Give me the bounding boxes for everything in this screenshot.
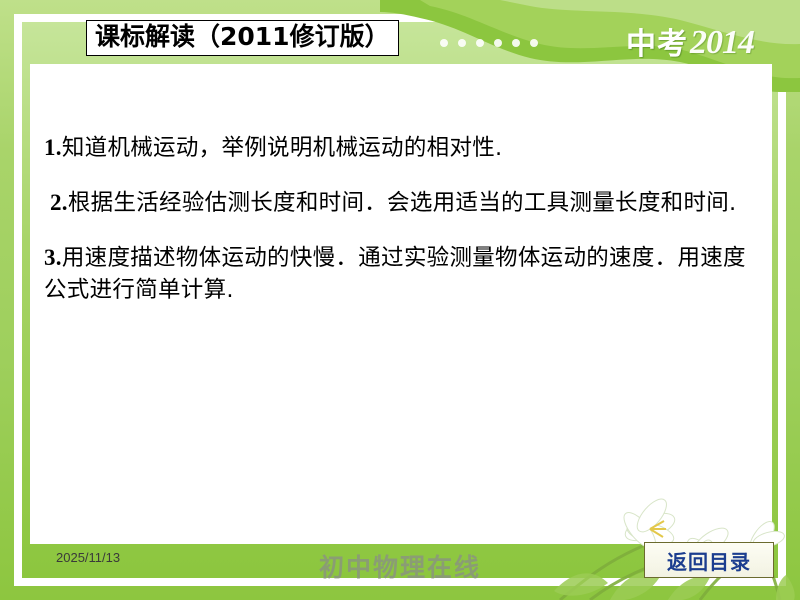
- list-item-number: 1.: [44, 135, 62, 160]
- list-item-number: 3.: [44, 245, 62, 270]
- slide-date: 2025/11/13: [56, 550, 120, 565]
- return-to-menu-button[interactable]: 返回目录: [644, 542, 774, 578]
- body-content: 1.知道机械运动，举例说明机械运动的相对性. 2.根据生活经验估测长度和时间．会…: [44, 132, 760, 329]
- exam-logo: 中考 2014: [626, 14, 754, 60]
- slide-canvas: 中考 2014 课标解读（2011修订版） 1.知道机械运动，举例说明机械运动的…: [0, 0, 800, 600]
- watermark: 初中物理在线: [275, 548, 525, 592]
- list-item: 3.用速度描述物体运动的快慢．通过实验测量物体运动的速度．用速度公式进行简单计算…: [44, 242, 760, 307]
- watermark-text: 初中物理在线: [275, 548, 525, 584]
- list-item: 2.根据生活经验估测长度和时间．会选用适当的工具测量长度和时间.: [50, 187, 760, 220]
- list-item-number: 2.: [50, 190, 68, 215]
- exam-logo-year: 2014: [690, 26, 754, 60]
- page-title-box: 课标解读（2011修订版）: [86, 20, 399, 56]
- list-item-text: 根据生活经验估测长度和时间．会选用适当的工具测量长度和时间.: [68, 190, 737, 216]
- list-item-text: 知道机械运动，举例说明机械运动的相对性.: [62, 135, 503, 161]
- exam-logo-cn: 中考: [626, 30, 688, 60]
- return-to-menu-label: 返回目录: [667, 546, 751, 575]
- page-title: 课标解读（2011修订版）: [95, 23, 390, 51]
- list-item: 1.知道机械运动，举例说明机械运动的相对性.: [44, 132, 760, 165]
- list-item-text: 用速度描述物体运动的快慢．通过实验测量物体运动的速度．用速度公式进行简单计算.: [44, 245, 746, 303]
